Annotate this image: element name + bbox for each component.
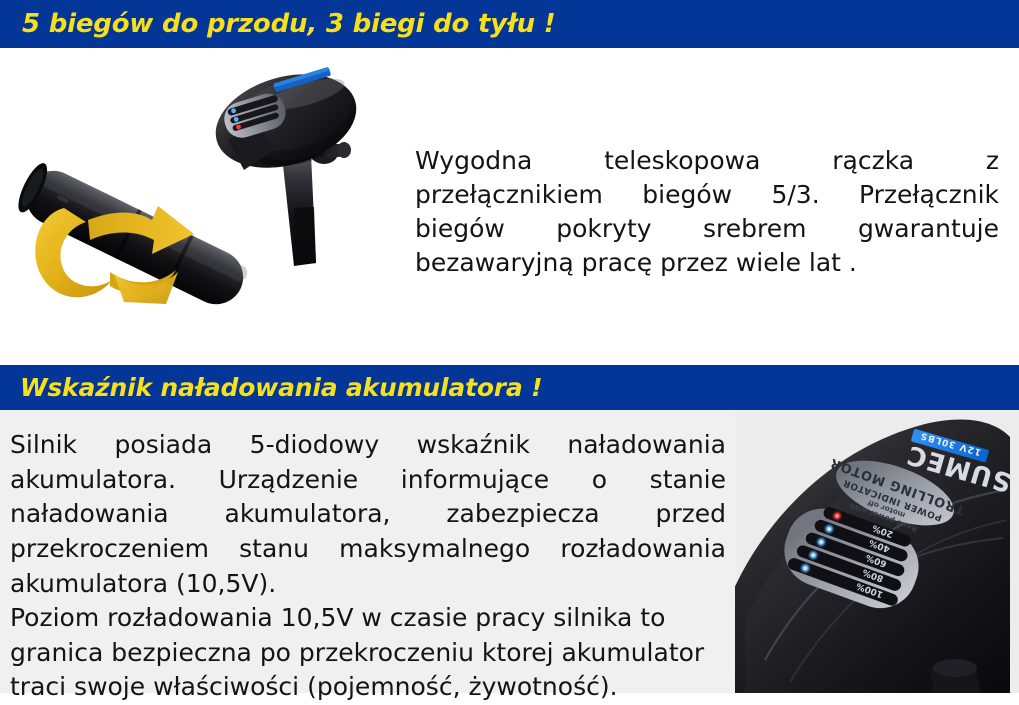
battery-paragraph-1: Silnik posiada 5-diodowy wskaźnik nałado… bbox=[10, 428, 726, 601]
trolling-motor-illustration bbox=[6, 58, 396, 353]
gears-description: Wygodna teleskopowa rączka z przełącznik… bbox=[415, 144, 999, 280]
section-battery-indicator: Silnik posiada 5-diodowy wskaźnik nałado… bbox=[0, 410, 1019, 693]
section-headline-bar-battery: Wskaźnik naładowania akumulatora ! bbox=[0, 365, 1019, 410]
battery-paragraph-2: Poziom rozładowania 10,5V w czasie pracy… bbox=[10, 601, 726, 705]
battery-indicator-photo: 12V 30LBS SUMEC POWER INDICATOR TROLLING… bbox=[735, 410, 1019, 693]
product-info-page: 5 biegów do przodu, 3 biegi do tyłu ! bbox=[0, 0, 1019, 693]
trolling-motor-photo bbox=[6, 58, 396, 353]
motor-head-closeup-illustration: 12V 30LBS SUMEC POWER INDICATOR TROLLING… bbox=[735, 410, 1010, 693]
battery-description: Silnik posiada 5-diodowy wskaźnik nałado… bbox=[10, 428, 726, 705]
headline-gears: 5 biegów do przodu, 3 biegi do tyłu ! bbox=[0, 9, 555, 39]
section-gears: Wygodna teleskopowa rączka z przełącznik… bbox=[0, 48, 1019, 365]
headline-battery-indicator: Wskaźnik naładowania akumulatora ! bbox=[0, 373, 542, 402]
gears-paragraph-1: Wygodna teleskopowa rączka z przełącznik… bbox=[415, 144, 999, 280]
section-headline-bar-gears: 5 biegów do przodu, 3 biegi do tyłu ! bbox=[0, 0, 1019, 48]
